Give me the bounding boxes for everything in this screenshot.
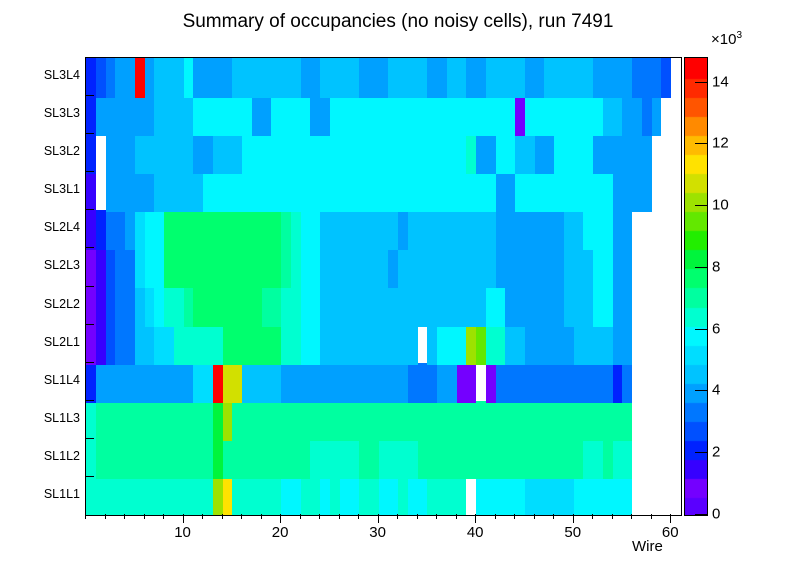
colorbar-tick — [695, 390, 708, 391]
x-axis-tick-label: 50 — [564, 524, 581, 541]
x-axis-tick — [651, 514, 652, 519]
heatmap-canvas[interactable] — [86, 58, 681, 515]
colorbar-tick-label: 2 — [712, 444, 720, 461]
x-axis-tick — [592, 514, 593, 519]
colorbar-tick-label: 0 — [712, 506, 720, 523]
colorbar-tick — [695, 143, 708, 144]
colorbar-tick-label: 14 — [712, 73, 729, 90]
x-axis-tick — [85, 514, 86, 519]
x-axis-tick — [319, 514, 320, 519]
x-axis-tick-major — [280, 514, 281, 523]
y-axis-tick — [85, 247, 94, 248]
y-axis-label-sl2l1: SL2L1 — [2, 335, 80, 349]
colorbar-tick-label: 8 — [712, 258, 720, 275]
x-axis-tick — [124, 514, 125, 519]
y-axis-label-sl1l4: SL1L4 — [2, 373, 80, 387]
x-axis-tick — [534, 514, 535, 519]
x-axis-tick — [300, 514, 301, 519]
x-axis-tick — [397, 514, 398, 519]
y-axis-label-sl2l2: SL2L2 — [2, 297, 80, 311]
y-axis-tick — [85, 95, 94, 96]
y-axis-label-sl2l3: SL2L3 — [2, 258, 80, 272]
y-axis-label-sl2l4: SL2L4 — [2, 220, 80, 234]
x-axis-tick-label: 40 — [467, 524, 484, 541]
root-canvas: Summary of occupancies (no noisy cells),… — [0, 0, 796, 572]
x-axis-tick-major — [573, 514, 574, 523]
y-axis-tick — [85, 362, 94, 363]
colorbar-exponent-power: 3 — [736, 30, 742, 41]
colorbar-tick — [695, 82, 708, 83]
x-axis-tick — [339, 514, 340, 519]
y-axis-label-sl1l1: SL1L1 — [2, 487, 80, 501]
y-axis-tick — [85, 476, 94, 477]
y-axis-tick — [85, 400, 94, 401]
colorbar-exponent-base: ×10 — [711, 31, 736, 48]
x-axis-tick-label: 30 — [369, 524, 386, 541]
y-axis-label-sl1l3: SL1L3 — [2, 411, 80, 425]
y-axis-label-sl3l3: SL3L3 — [2, 106, 80, 120]
x-axis-tick — [105, 514, 106, 519]
x-axis-tick — [456, 514, 457, 519]
colorbar-axis: 02468101214 — [684, 57, 754, 514]
x-axis-tick — [202, 514, 203, 519]
colorbar-tick-label: 10 — [712, 197, 729, 214]
colorbar-tick — [695, 205, 708, 206]
x-axis-tick — [144, 514, 145, 519]
x-axis-tick — [222, 514, 223, 519]
x-axis-tick-major — [183, 514, 184, 523]
x-axis-tick-label: 10 — [174, 524, 191, 541]
x-axis-tick — [631, 514, 632, 519]
x-axis-tick — [495, 514, 496, 519]
colorbar-tick — [695, 329, 708, 330]
x-axis-tick — [358, 514, 359, 519]
y-axis: SL1L1SL1L2SL1L3SL1L4SL2L1SL2L2SL2L3SL2L4… — [0, 57, 80, 514]
x-axis-tick-label: 20 — [272, 524, 289, 541]
y-axis-tick — [85, 171, 94, 172]
x-axis-tick — [553, 514, 554, 519]
colorbar-tick-label: 6 — [712, 320, 720, 337]
y-axis-label-sl3l2: SL3L2 — [2, 144, 80, 158]
y-axis-tick — [85, 438, 94, 439]
x-axis-tick-major — [475, 514, 476, 523]
colorbar-tick — [695, 514, 708, 515]
x-axis-tick-label: 60 — [662, 524, 679, 541]
x-axis-tick — [436, 514, 437, 519]
y-axis-tick — [85, 324, 94, 325]
colorbar-tick-label: 4 — [712, 382, 720, 399]
y-axis-tick — [85, 133, 94, 134]
x-axis-tick — [417, 514, 418, 519]
x-axis-title: Wire — [632, 538, 663, 555]
x-axis-tick-major — [378, 514, 379, 523]
x-axis-tick — [163, 514, 164, 519]
y-axis-tick — [85, 286, 94, 287]
heatmap-plot-area[interactable] — [85, 57, 682, 516]
y-axis-label-sl3l1: SL3L1 — [2, 182, 80, 196]
x-axis-tick — [612, 514, 613, 519]
colorbar-tick-label: 12 — [712, 135, 729, 152]
x-axis: 102030405060 — [85, 515, 682, 555]
y-axis-label-sl3l4: SL3L4 — [2, 68, 80, 82]
colorbar-tick — [695, 267, 708, 268]
colorbar-exponent-label: ×103 — [711, 30, 742, 48]
x-axis-tick — [514, 514, 515, 519]
x-axis-tick — [241, 514, 242, 519]
x-axis-tick — [261, 514, 262, 519]
colorbar-tick — [695, 452, 708, 453]
page-title: Summary of occupancies (no noisy cells),… — [0, 11, 796, 33]
y-axis-label-sl1l2: SL1L2 — [2, 449, 80, 463]
y-axis-tick — [85, 209, 94, 210]
x-axis-tick-major — [670, 514, 671, 523]
